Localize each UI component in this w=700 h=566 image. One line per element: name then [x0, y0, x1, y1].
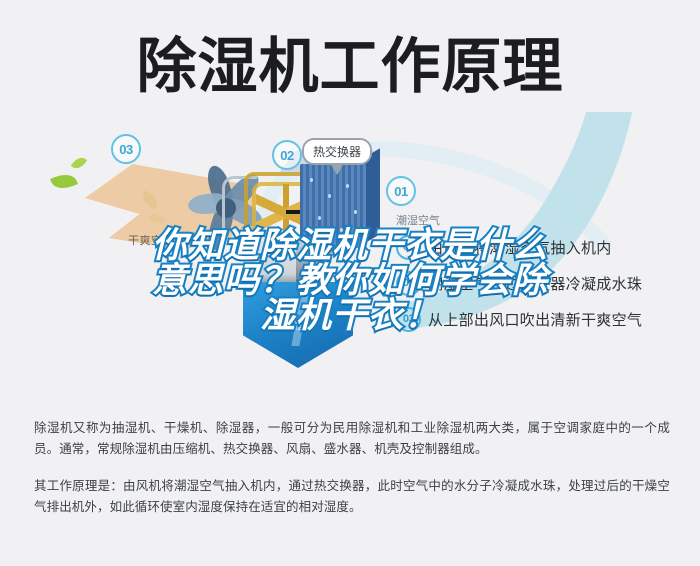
article-body: 除湿机又称为抽湿机、干燥机、除湿器，一般可分为民用除湿机和工业除湿机两大类，属于…: [34, 418, 670, 518]
water-droplet-icon: [346, 184, 349, 188]
legend-number: 02: [396, 271, 421, 296]
legend-label: 由风机将潮湿空气抽入机内: [428, 237, 612, 258]
water-droplet-icon: [328, 194, 331, 198]
marker-03: 03: [111, 134, 141, 164]
legend-item: 01 由风机将潮湿空气抽入机内: [396, 236, 696, 258]
legend-label: 从上部出风口吹出清新干爽空气: [428, 309, 642, 330]
water-droplet-icon: [318, 216, 321, 220]
heat-exchanger-fins: [300, 164, 366, 248]
page-title-text: 除湿机工作原理: [137, 37, 564, 97]
marker-01: 01: [386, 176, 416, 206]
water-droplet-icon: [340, 228, 343, 232]
dry-air-label: 干爽空气: [128, 232, 174, 248]
legend-number: 03: [396, 307, 421, 332]
legend-label: 潮湿空气经过蒸发器冷凝成水珠: [428, 273, 642, 294]
infographic-page: 除湿机工作原理 干爽空气: [0, 0, 700, 566]
legend-number: 01: [396, 235, 421, 260]
body-paragraph-2: 其工作原理是：由风机将潮湿空气抽入机内，通过热交换器，此时空气中的水分子冷凝成水…: [34, 476, 670, 518]
legend-item: 03 从上部出风口吹出清新干爽空气: [396, 308, 696, 330]
legend-item: 02 潮湿空气经过蒸发器冷凝成水珠: [396, 272, 696, 294]
humid-air-label: 潮湿空气: [396, 212, 440, 228]
water-droplet-icon: [310, 178, 313, 182]
leaf-icon: [50, 170, 78, 193]
marker-02: 02: [272, 140, 302, 170]
dehumidifier-diagram: 干爽空气: [0, 112, 700, 412]
heat-exchanger-callout: 热交换器: [302, 138, 372, 165]
diagram-legend: 01 由风机将潮湿空气抽入机内 02 潮湿空气经过蒸发器冷凝成水珠 03 从上部…: [396, 236, 696, 344]
water-droplet-icon: [354, 210, 357, 214]
water-tank-label: 水箱: [281, 317, 305, 333]
leaf-icon: [71, 154, 87, 171]
page-title: 除湿机工作原理: [0, 24, 700, 110]
body-paragraph-1: 除湿机又称为抽湿机、干燥机、除湿器，一般可分为民用除湿机和工业除湿机两大类，属于…: [34, 418, 670, 460]
